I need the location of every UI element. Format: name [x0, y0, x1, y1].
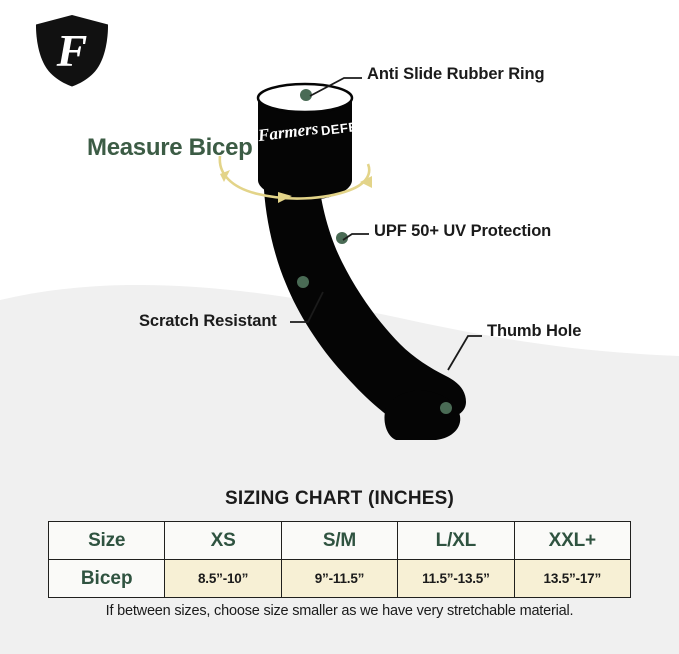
header-cell-lxl: L/XL [398, 522, 514, 560]
dot-rubber-ring [300, 89, 312, 101]
sizing-chart-title: SIZING CHART (INCHES) [0, 488, 679, 510]
table-header-row: Size XS S/M L/XL XXL+ [49, 522, 631, 560]
header-cell-sm: S/M [281, 522, 397, 560]
annotation-upf-protection: UPF 50+ UV Protection [374, 222, 551, 241]
cell-bicep-lxl: 11.5”-13.5” [398, 560, 514, 598]
header-cell-size: Size [49, 522, 165, 560]
sizing-chart-note: If between sizes, choose size smaller as… [0, 603, 679, 619]
annotation-thumb-hole: Thumb Hole [487, 322, 581, 341]
cell-bicep-sm: 9”-11.5” [281, 560, 397, 598]
table-row-bicep: Bicep 8.5”-10” 9”-11.5” 11.5”-13.5” 13.5… [49, 560, 631, 598]
shield-logo-icon: F [28, 10, 116, 92]
cell-bicep-xs: 8.5”-10” [165, 560, 281, 598]
header-cell-xxl: XXL+ [514, 522, 630, 560]
sizing-chart-table: Size XS S/M L/XL XXL+ Bicep 8.5”-10” 9”-… [48, 521, 631, 598]
logo-letter: F [56, 25, 88, 76]
cell-bicep-xxl: 13.5”-17” [514, 560, 630, 598]
dot-upf [336, 232, 348, 244]
header-cell-xs: XS [165, 522, 281, 560]
dot-thumb-hole [440, 402, 452, 414]
sleeve-cuff [258, 98, 352, 200]
infographic-page: F Farmers DEFENSE [0, 0, 679, 654]
dot-scratch [297, 276, 309, 288]
row-label-bicep: Bicep [49, 560, 165, 598]
annotation-scratch-resistant: Scratch Resistant [139, 312, 277, 331]
annotation-anti-slide-rubber-ring: Anti Slide Rubber Ring [367, 65, 544, 84]
arm-sleeve-illustration: Farmers DEFENSE [190, 70, 520, 450]
annotation-measure-bicep: Measure Bicep [87, 134, 253, 162]
